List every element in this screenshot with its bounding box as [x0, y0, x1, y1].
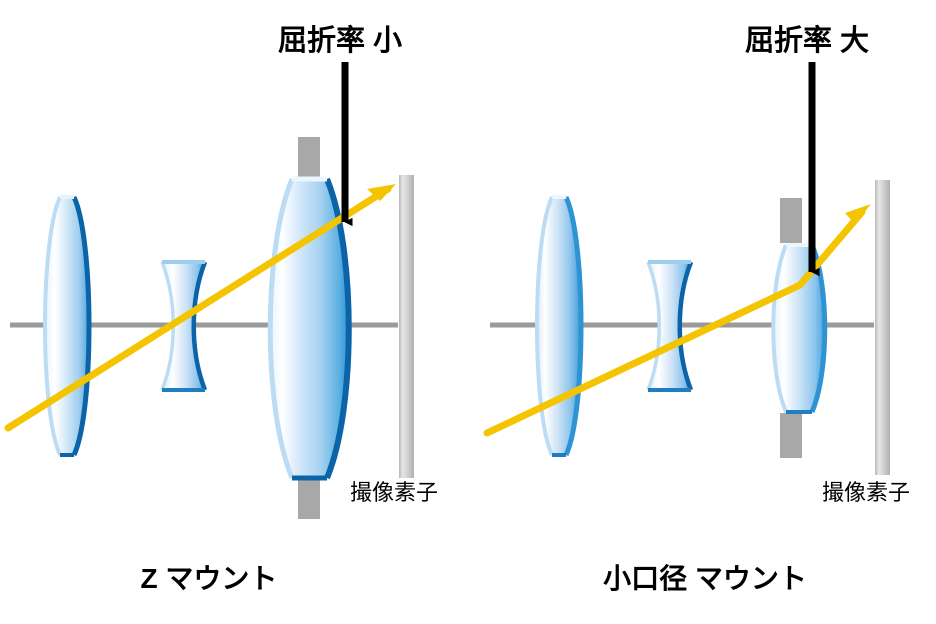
- sensor-label: 撮像素子: [350, 480, 438, 505]
- diagram-canvas: 屈折率 小 撮像素子 Z マウント: [0, 0, 936, 624]
- front-convex-lens: [537, 197, 581, 455]
- panel-z-mount: 屈折率 小 撮像素子 Z マウント: [8, 23, 438, 594]
- panel-small-diameter-mount: 屈折率 大 撮像素子 小口径 マウント: [487, 23, 910, 594]
- image-sensor-bar: [399, 175, 414, 478]
- mount-block-bottom: [298, 477, 320, 519]
- lens-mount-comparison-diagram: 屈折率 小 撮像素子 Z マウント: [0, 0, 936, 624]
- callout-label-refractive-index: 屈折率 小: [278, 23, 402, 57]
- image-sensor-bar: [875, 180, 890, 475]
- callout-label-refractive-index: 屈折率 大: [745, 23, 869, 57]
- front-convex-lens: [45, 197, 89, 455]
- panel-caption-z-mount: Z マウント: [141, 563, 278, 594]
- sensor-label: 撮像素子: [822, 480, 910, 505]
- mount-block-top: [780, 198, 802, 243]
- mount-block-top: [298, 137, 320, 179]
- panel-caption-small-diameter-mount: 小口径 マウント: [603, 563, 807, 594]
- mount-block-bottom: [780, 413, 802, 458]
